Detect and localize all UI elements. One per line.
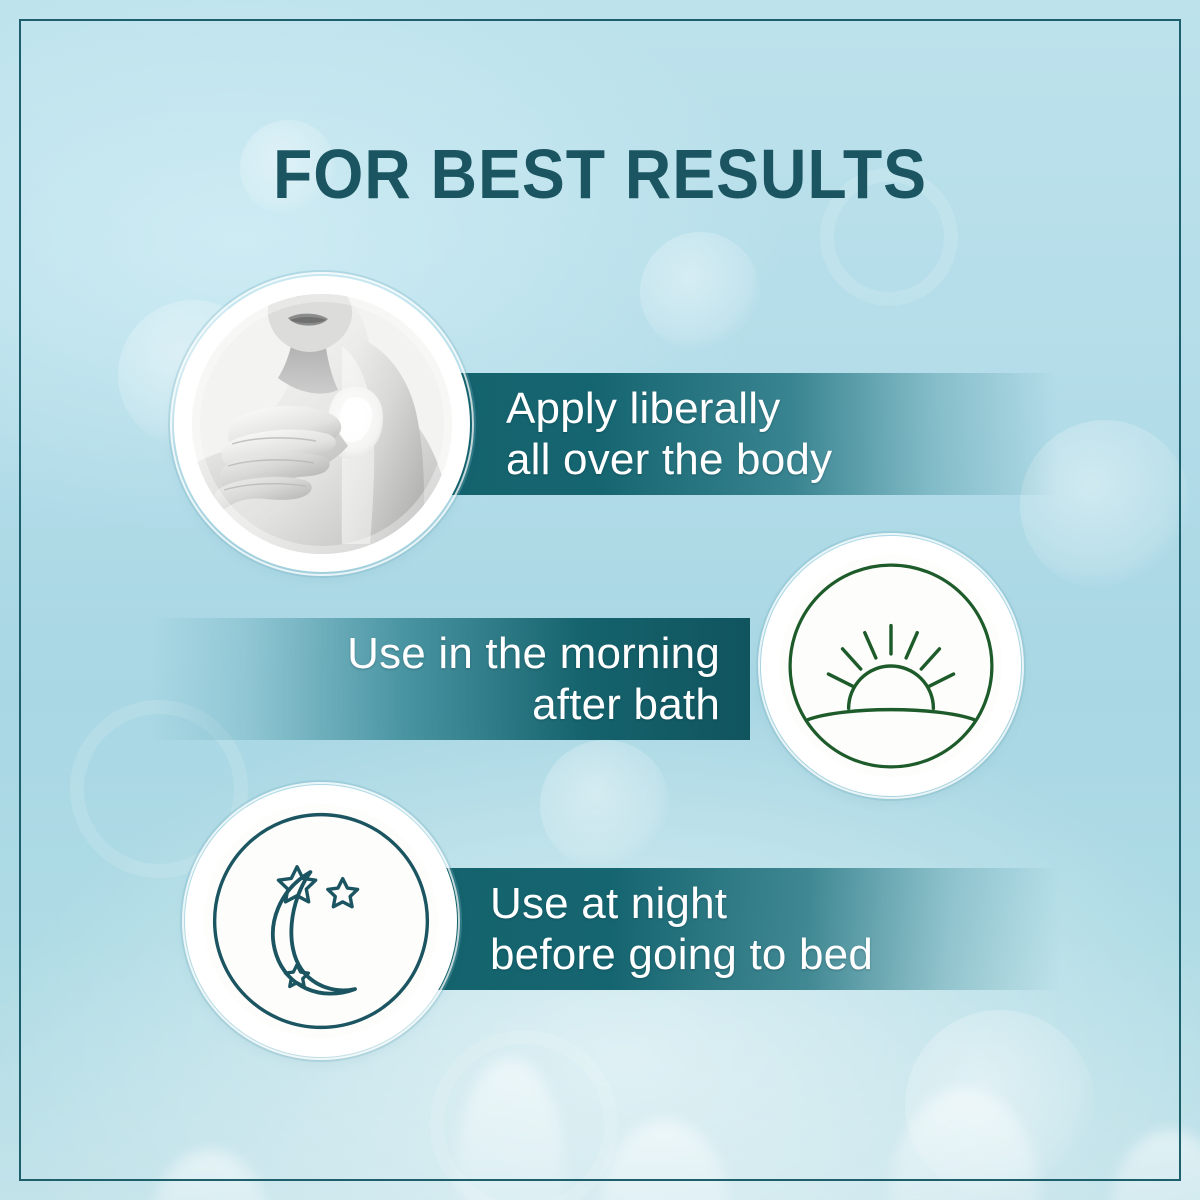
step-icon-circle-morning xyxy=(771,546,1011,786)
bokeh-circle xyxy=(540,740,670,870)
page-title: FOR BEST RESULTS xyxy=(48,139,1152,209)
bokeh-ring xyxy=(430,1030,618,1200)
person-applying-cream-photo xyxy=(192,294,452,554)
background-blob xyxy=(455,1058,565,1200)
background-blob xyxy=(890,1088,1040,1200)
crescent-moon-stars-icon xyxy=(204,804,438,1038)
background-blob xyxy=(150,1150,270,1200)
background-blob xyxy=(600,1120,730,1200)
circle-inner xyxy=(780,555,1002,777)
step-label-apply: Apply liberally all over the body xyxy=(506,383,832,486)
step-icon-circle-night xyxy=(195,795,447,1047)
step-banner-night: Use at night before going to bed xyxy=(360,868,1060,990)
for-best-results-poster: FOR BEST RESULTS Apply liberally all ove… xyxy=(0,0,1200,1200)
step-label-night: Use at night before going to bed xyxy=(490,878,873,981)
sunrise-icon xyxy=(780,555,1002,777)
circle-inner xyxy=(204,804,438,1038)
bokeh-circle xyxy=(905,1010,1095,1200)
step-label-morning: Use in the morning after bath xyxy=(347,628,720,731)
step-icon-circle-apply xyxy=(183,285,461,563)
circle-inner xyxy=(192,294,452,554)
background-blob xyxy=(1110,1130,1200,1200)
step-banner-morning: Use in the morning after bath xyxy=(150,618,750,740)
bokeh-circle xyxy=(640,232,760,352)
